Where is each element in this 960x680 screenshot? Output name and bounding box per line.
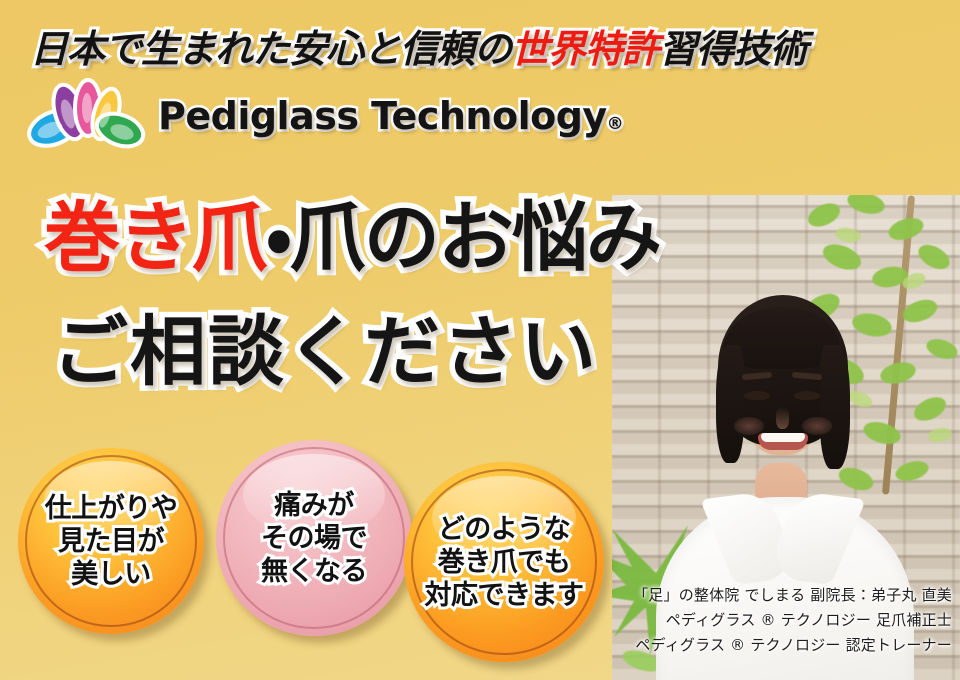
badge-line-1: どのような	[425, 513, 584, 546]
pediglass-promo-banner: 「足」の整体院 でしまる 副院長：弟子丸 直美 ペディグラス ® テクノロジー …	[0, 0, 960, 680]
tagline-part-1: 日本で生まれた安心と信頼の	[30, 27, 511, 71]
headline-rest: ・爪のお悩み	[266, 193, 660, 282]
pediglass-flower-logo-icon	[24, 78, 148, 154]
caption-line-1: 「足」の整体院 でしまる 副院長：弟子丸 直美	[610, 583, 952, 608]
registered-mark: ®	[607, 114, 624, 134]
tagline-highlight: 世界特許	[511, 27, 659, 71]
badge-line-1: 痛みが	[261, 489, 367, 522]
cheek-right	[802, 417, 832, 435]
cheek-left	[734, 417, 764, 435]
photo-caption: 「足」の整体院 でしまる 副院長：弟子丸 直美 ペディグラス ® テクノロジー …	[610, 583, 952, 658]
main-headline-line-2: ご相談ください	[52, 290, 598, 400]
brand-wordmark: Pediglass Technology®	[158, 94, 623, 138]
badge-line-3: 美しい	[45, 558, 178, 591]
badge-any-case[interactable]: どのような 巻き爪でも 対応できます	[404, 462, 604, 662]
badge-finish-beauty[interactable]: 仕上がりや 見た目が 美しい	[18, 448, 204, 634]
badge-line-3: 無くなる	[261, 555, 367, 588]
badge-line-2: 見た目が	[45, 525, 178, 558]
teeth	[761, 433, 805, 442]
headline-line-2-text: ご相談ください	[52, 307, 598, 396]
badge-line-2: 巻き爪でも	[425, 546, 584, 579]
hair-side-left	[716, 345, 744, 463]
nose	[776, 407, 789, 429]
top-tagline: 日本で生まれた安心と信頼の世界特許習得技術	[30, 18, 807, 73]
badge-line-1: 仕上がりや	[45, 492, 178, 525]
badge-text: 痛みが その場で 無くなる	[261, 489, 367, 588]
main-headline-line-1: 巻き爪・爪のお悩み	[44, 176, 660, 286]
hair-side-right	[820, 345, 850, 469]
badge-text: 仕上がりや 見た目が 美しい	[45, 492, 178, 591]
brand-name-text: Pediglass Technology	[158, 94, 607, 138]
tagline-part-3: 習得技術	[659, 27, 807, 71]
eye-right	[794, 391, 820, 400]
brand-logo: Pediglass Technology®	[24, 78, 623, 154]
caption-line-2: ペディグラス ® テクノロジー 足爪補正士	[610, 608, 952, 633]
badge-text: どのような 巻き爪でも 対応できます	[425, 513, 584, 612]
caption-line-3: ペディグラス ® テクノロジー 認定トレーナー	[610, 633, 952, 658]
badge-pain-relief[interactable]: 痛みが その場で 無くなる	[216, 440, 412, 636]
mouth	[758, 433, 808, 450]
headline-highlight: 巻き爪	[44, 193, 266, 282]
badge-line-3: 対応できます	[425, 579, 584, 612]
badge-line-2: その場で	[261, 522, 367, 555]
eye-left	[744, 391, 770, 400]
